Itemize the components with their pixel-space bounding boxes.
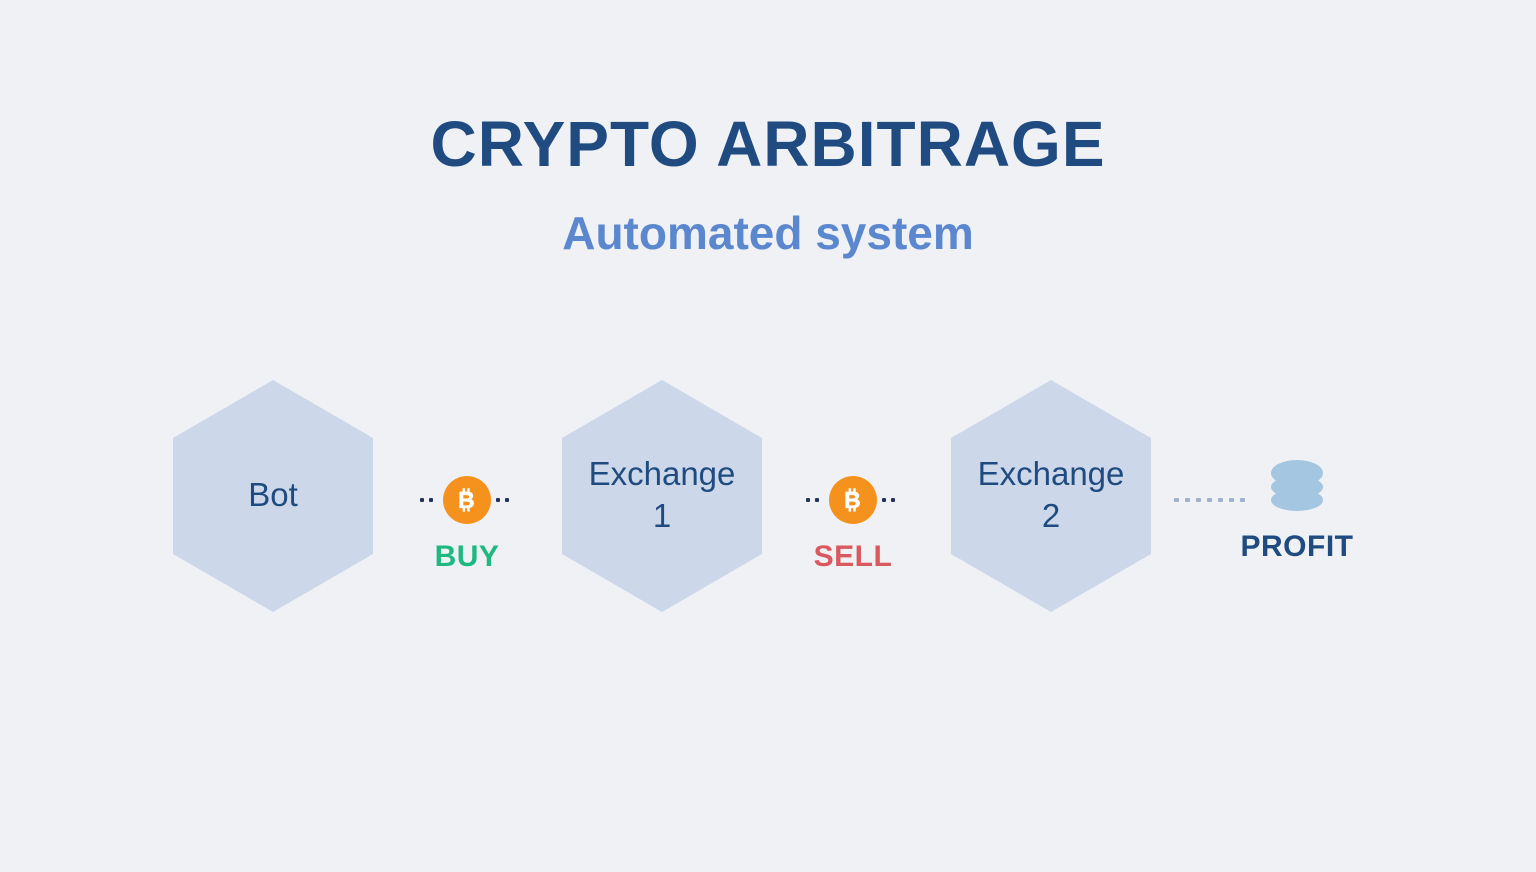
flow-node-exchange-2[interactable]: Exchange 2 bbox=[951, 380, 1151, 612]
profit-label: PROFIT bbox=[1197, 532, 1397, 562]
arbitrage-flow: Bot BUY bbox=[0, 380, 1536, 640]
page-subtitle: Automated system bbox=[0, 210, 1536, 256]
diagram-canvas: CRYPTO ARBITRAGE Automated system Bot bbox=[0, 0, 1536, 872]
flow-node-bot[interactable]: Bot bbox=[173, 380, 373, 612]
flow-node-exchange-2-label: Exchange 2 bbox=[978, 453, 1125, 539]
dotted-line-right bbox=[882, 498, 895, 502]
dotted-line-left bbox=[806, 498, 819, 502]
flow-connector-sell: SELL bbox=[788, 476, 918, 606]
trade-action-sell: SELL bbox=[788, 542, 918, 572]
trade-action-buy: BUY bbox=[402, 542, 532, 572]
flow-node-profit: PROFIT bbox=[1166, 476, 1426, 616]
page-title: CRYPTO ARBITRAGE bbox=[0, 112, 1536, 176]
flow-node-exchange-1-label: Exchange 1 bbox=[589, 453, 736, 539]
dotted-line-profit bbox=[1174, 498, 1245, 502]
bitcoin-icon[interactable] bbox=[829, 476, 877, 524]
bitcoin-icon[interactable] bbox=[443, 476, 491, 524]
flow-node-exchange-1[interactable]: Exchange 1 bbox=[562, 380, 762, 612]
dotted-line-left bbox=[420, 498, 433, 502]
database-icon bbox=[1266, 456, 1328, 524]
flow-connector-buy: BUY bbox=[402, 476, 532, 606]
flow-node-bot-label: Bot bbox=[248, 474, 298, 518]
dotted-line-right bbox=[496, 498, 509, 502]
